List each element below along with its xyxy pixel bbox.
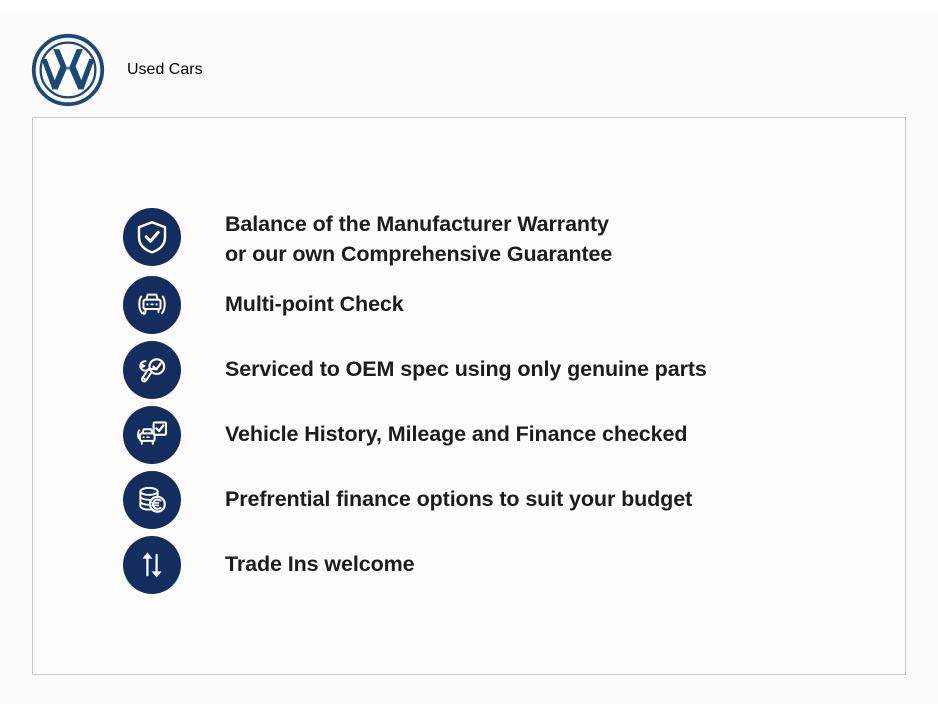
list-item: Trade Ins welcome bbox=[123, 536, 863, 594]
list-item-label: Serviced to OEM spec using only genuine … bbox=[225, 341, 707, 384]
list-item: Balance of the Manufacturer Warranty or … bbox=[123, 208, 863, 269]
car-inspection-icon bbox=[123, 276, 181, 334]
arrows-up-down-icon bbox=[123, 536, 181, 594]
feature-list: Balance of the Manufacturer Warranty or … bbox=[123, 208, 863, 601]
list-item: Multi-point Check bbox=[123, 276, 863, 334]
car-document-check-icon bbox=[123, 406, 181, 464]
list-item-label: Multi-point Check bbox=[225, 276, 404, 319]
list-item-label: Trade Ins welcome bbox=[225, 536, 415, 579]
wrench-check-icon bbox=[123, 341, 181, 399]
coins-euro-icon bbox=[123, 471, 181, 529]
list-item-label: Balance of the Manufacturer Warranty or … bbox=[225, 208, 612, 269]
list-item: Vehicle History, Mileage and Finance che… bbox=[123, 406, 863, 464]
list-item-label: Vehicle History, Mileage and Finance che… bbox=[225, 406, 687, 449]
shield-check-icon bbox=[123, 208, 181, 266]
list-item: Prefrential finance options to suit your… bbox=[123, 471, 863, 529]
feature-panel: Balance of the Manufacturer Warranty or … bbox=[32, 117, 906, 675]
volkswagen-logo-icon bbox=[30, 32, 106, 108]
list-item-label: Prefrential finance options to suit your… bbox=[225, 471, 692, 514]
brand-header: Used Cars bbox=[30, 32, 203, 108]
used-cars-promo-page: Used Cars Balance of the Manufacturer Wa… bbox=[0, 0, 938, 704]
list-item: Serviced to OEM spec using only genuine … bbox=[123, 341, 863, 399]
page-title: Used Cars bbox=[127, 61, 203, 79]
